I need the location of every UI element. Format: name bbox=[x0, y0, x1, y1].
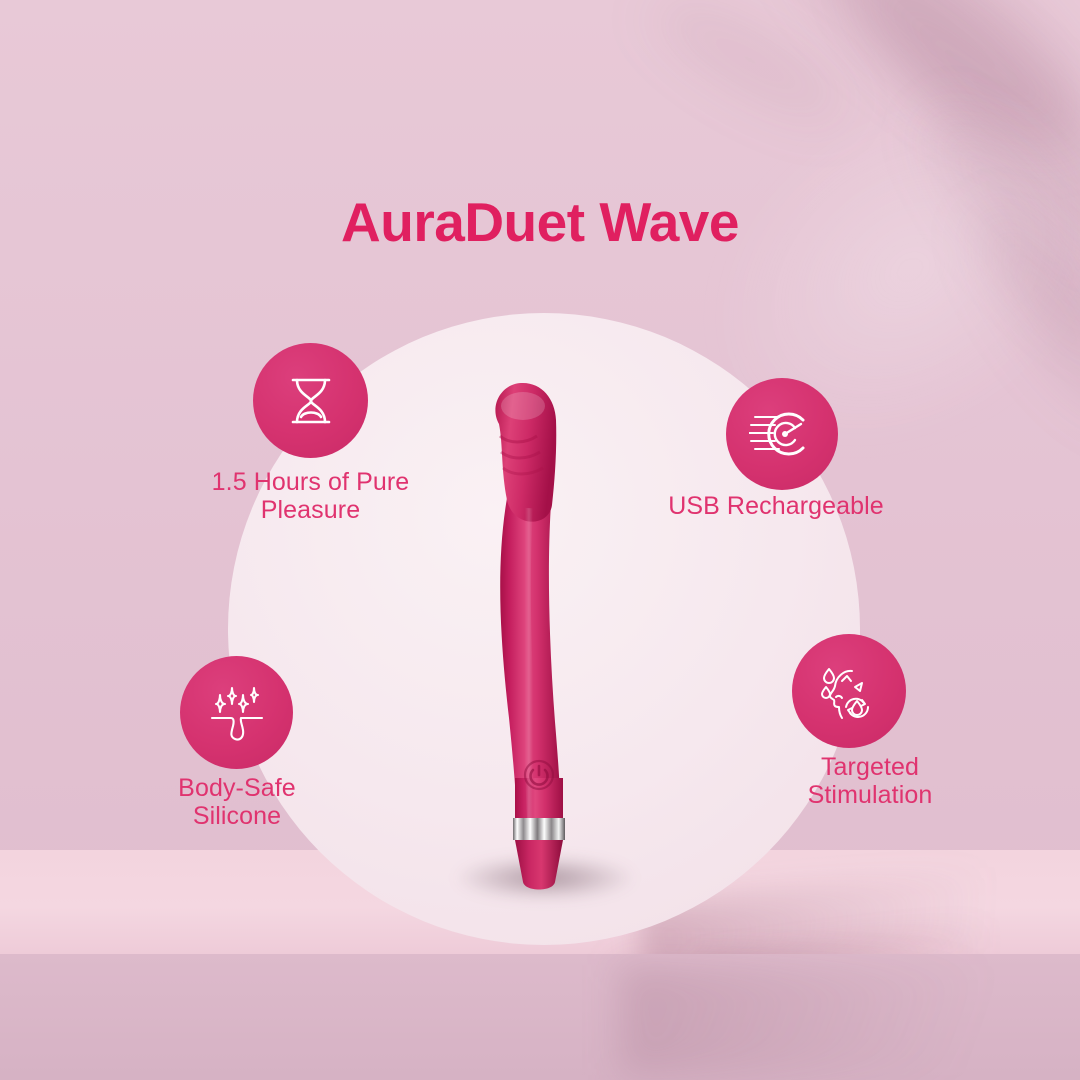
face-droplet-icon bbox=[816, 659, 882, 723]
feature-label-line: USB Rechargeable bbox=[646, 492, 906, 520]
feature-label-material: Body-Safe Silicone bbox=[117, 774, 357, 830]
feature-label-line: Pleasure bbox=[173, 496, 448, 524]
feature-label-line: Silicone bbox=[117, 802, 357, 830]
hourglass-icon bbox=[280, 370, 342, 432]
podium-base-shadow bbox=[620, 965, 1080, 1075]
page-title: AuraDuet Wave bbox=[0, 190, 1080, 254]
feature-label-line: 1.5 Hours of Pure bbox=[173, 468, 448, 496]
feature-badge-material bbox=[180, 656, 293, 769]
feature-badge-battery-life bbox=[253, 343, 368, 458]
feature-badge-stimulation bbox=[792, 634, 906, 748]
product-base-cap bbox=[515, 840, 563, 890]
feature-label-battery-life: 1.5 Hours of Pure Pleasure bbox=[173, 468, 448, 524]
chrome-band-icon bbox=[513, 818, 565, 840]
speedometer-icon bbox=[749, 404, 815, 464]
feature-label-line: Body-Safe bbox=[117, 774, 357, 802]
feature-badge-charging bbox=[726, 378, 838, 490]
product-image bbox=[455, 378, 625, 898]
leaf-shadow bbox=[640, 0, 861, 141]
feature-label-line: Targeted bbox=[750, 753, 990, 781]
feature-label-charging: USB Rechargeable bbox=[646, 492, 906, 520]
feature-label-line: Stimulation bbox=[750, 781, 990, 809]
product-infographic: AuraDuet Wave bbox=[0, 0, 1080, 1080]
feature-label-stimulation: Targeted Stimulation bbox=[750, 753, 990, 809]
sparkle-skin-icon bbox=[205, 682, 269, 744]
